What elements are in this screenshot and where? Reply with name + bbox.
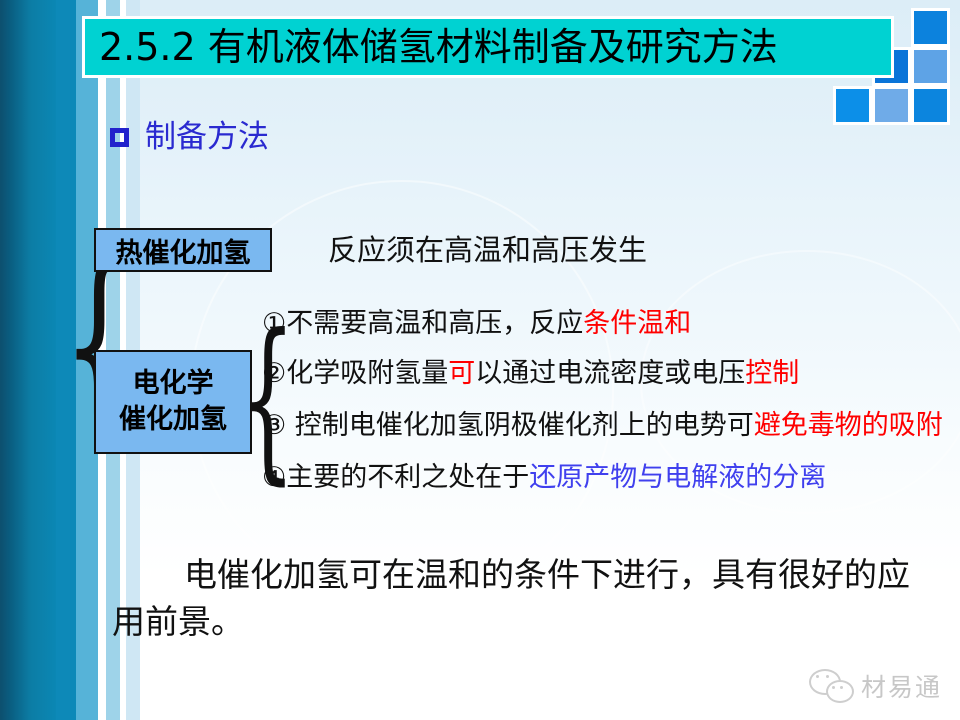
list-item: ④主要的不利之处在于还原产物与电解液的分离 [262,464,826,491]
thermal-hydrogenation-label: 热催化加氢 [116,231,251,270]
slide-title: 2.5.2 有机液体储氢材料制备及研究方法 [85,28,778,66]
wechat-icon [809,669,853,703]
list-marker: ④ [262,462,286,493]
list-marker: ③ [262,410,286,441]
wechat-dot-1 [816,675,819,678]
slide-canvas: 2.5.2 有机液体储氢材料制备及研究方法 制备方法 { 热催化加氢 反应须在高… [0,0,960,720]
list-item: ①不需要高温和高压，反应条件温和 [262,310,691,337]
electro-label-line1: 电化学 [133,366,214,402]
square-bullet-icon [110,128,129,147]
list-text: 以通过电流密度或电压 [475,358,745,389]
list-text: 控制电催化加氢阴极催化剂上的电势可 [286,410,754,441]
closing-paragraph-text: 电催化加氢可在温和的条件下进行，具有很好的应用前景。 [112,555,910,641]
wechat-dot-3 [832,686,835,689]
section-heading-label: 制备方法 [145,122,269,153]
list-highlight: 避免毒物的吸附 [754,410,943,441]
wechat-bubble-small [826,680,854,703]
list-text: 化学吸附氢量 [286,358,448,389]
slide-title-bar: 2.5.2 有机液体储氢材料制备及研究方法 [82,16,894,78]
decor-square [911,8,950,47]
list-marker: ① [262,308,286,339]
electrocatalytic-hydrogenation-box: 电化学 催化加氢 [94,350,252,454]
list-item: ③ 控制电催化加氢阴极催化剂上的电势可避免毒物的吸附 [262,412,943,439]
decor-square [833,86,872,125]
wechat-dot-4 [840,686,843,689]
closing-paragraph: 电催化加氢可在温和的条件下进行，具有很好的应用前景。 [112,552,912,646]
decor-square [911,86,950,125]
wechat-dot-2 [826,675,829,678]
section-heading: 制备方法 [110,122,269,153]
list-highlight: 条件温和 [583,308,691,339]
list-item: ②化学吸附氢量可以通过电流密度或电压控制 [262,360,799,387]
thermal-hydrogenation-box: 热催化加氢 [94,228,272,272]
left-stripe-dark [0,0,56,720]
list-highlight: 还原产物与电解液的分离 [529,462,826,493]
list-highlight: 控制 [745,358,799,389]
electro-label-line2: 催化加氢 [119,402,227,438]
decor-square [872,86,911,125]
watermark: 材易通 [809,668,942,704]
list-marker: ② [262,358,286,389]
thermal-description: 反应须在高温和高压发生 [328,228,647,272]
list-text: 不需要高温和高压，反应 [286,308,583,339]
list-highlight: 可 [448,358,475,389]
decor-square [911,47,950,86]
watermark-label: 材易通 [861,668,942,704]
list-text: 主要的不利之处在于 [286,462,529,493]
